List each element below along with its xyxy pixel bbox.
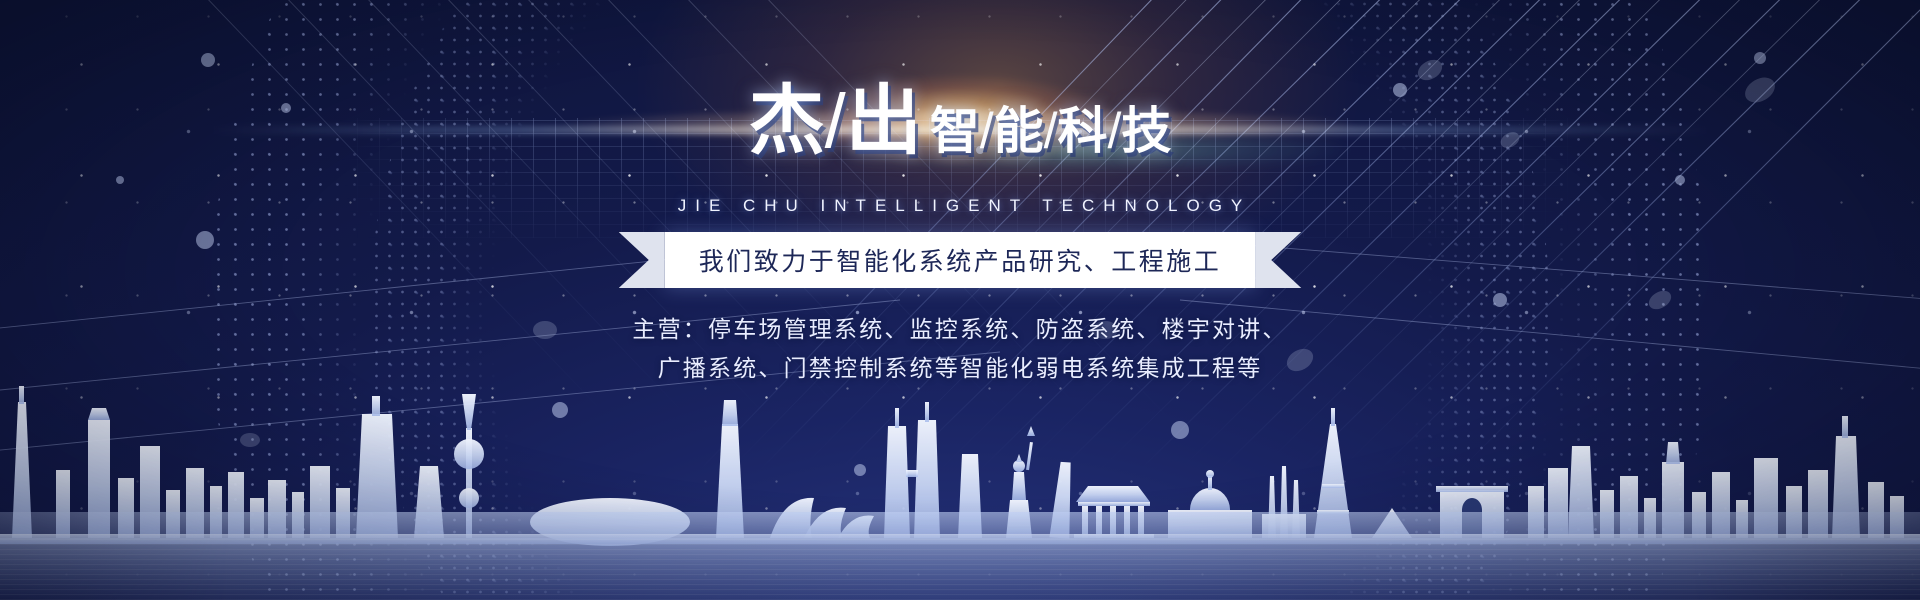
title-slash-4: / [1108, 106, 1122, 160]
ribbon-body: 我们致力于智能化系统产品研究、工程施工 [665, 232, 1256, 288]
english-subtitle: JIE CHU INTELLIGENT TECHNOLOGY [0, 196, 1920, 216]
page-title: 杰 / 出 智 / 能 / 科 / 技 [0, 84, 1920, 160]
title-char-6: 技 [1121, 106, 1171, 160]
title-char-2: 出 [846, 84, 922, 160]
title-slash-3: / [1044, 106, 1058, 160]
title-char-3: 智 [930, 106, 980, 160]
ribbon-banner: 我们致力于智能化系统产品研究、工程施工 [619, 232, 1302, 288]
title-slash-2: / [980, 106, 994, 160]
hero-banner: 杰 / 出 智 / 能 / 科 / 技 JIE CHU INTELLIGENT … [0, 0, 1920, 600]
description-block: 主营：停车场管理系统、监控系统、防盗系统、楼宇对讲、 广播系统、门禁控制系统等智… [0, 310, 1920, 387]
ribbon-text: 我们致力于智能化系统产品研究、工程施工 [699, 242, 1222, 278]
banner-content: 杰 / 出 智 / 能 / 科 / 技 JIE CHU INTELLIGENT … [0, 0, 1920, 600]
description-line-2: 广播系统、门禁控制系统等智能化弱电系统集成工程等 [0, 349, 1920, 388]
description-line-1: 主营：停车场管理系统、监控系统、防盗系统、楼宇对讲、 [0, 310, 1920, 349]
ribbon-tail-right [1255, 232, 1301, 288]
title-char-5: 科 [1058, 106, 1108, 160]
ribbon-tail-left [619, 232, 665, 288]
title-char-4: 能 [994, 106, 1044, 160]
title-char-1: 杰 [749, 84, 825, 160]
title-slash-1: / [825, 84, 846, 160]
